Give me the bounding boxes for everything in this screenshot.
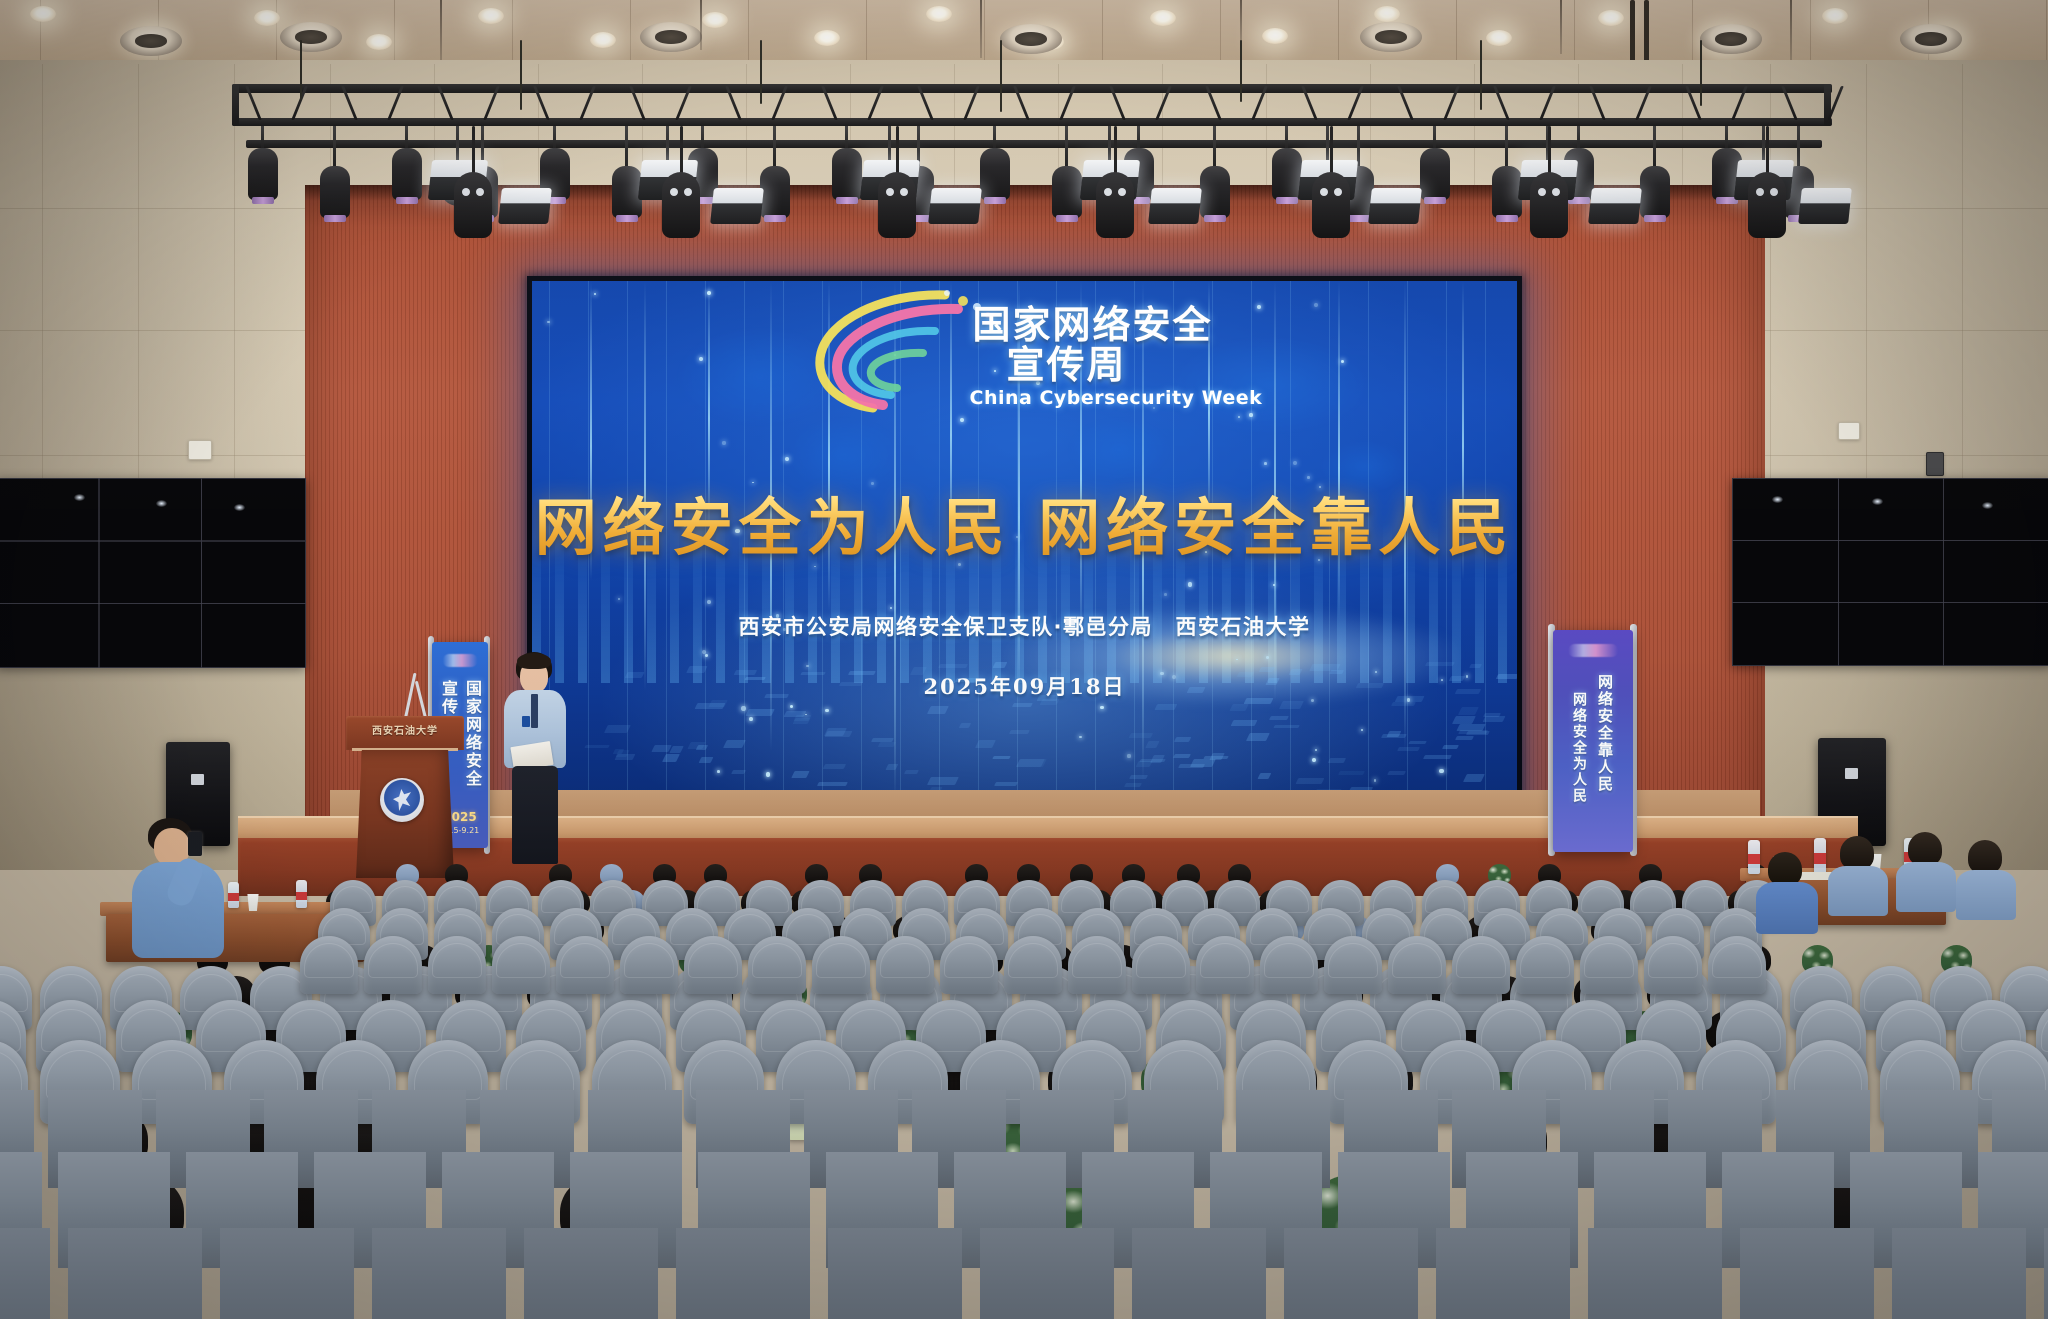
auditorium-seat: [1388, 936, 1446, 994]
auditorium-seat: [1452, 936, 1510, 994]
auditorium-seat: [0, 1228, 50, 1319]
left-banner-logo: [443, 654, 478, 667]
lamp-drop-arm: [1326, 126, 1329, 162]
data-block: [1423, 755, 1452, 759]
auditorium-seat: [372, 1228, 506, 1319]
moving-head-light: [1312, 172, 1350, 238]
hanging-cable: [520, 40, 522, 110]
led-screen: 国家网络安全 宣传周 China Cybersecurity Week 网络安全…: [527, 276, 1522, 829]
ceiling-downlight: [1262, 28, 1288, 44]
ceiling-seam: [276, 0, 277, 66]
ceiling-wire: [1560, 0, 1562, 54]
data-block: [1463, 774, 1485, 782]
network-node: [749, 717, 753, 721]
cybersecurity-week-logo: 国家网络安全 宣传周 China Cybersecurity Week: [795, 287, 1255, 415]
par-can-light: [1492, 166, 1522, 218]
auditorium-seat: [1740, 1228, 1874, 1319]
auditorium-seat: [492, 936, 550, 994]
auditorium-seat: [1004, 936, 1062, 994]
data-block: [1129, 775, 1149, 779]
event-date: 2025年09月18日: [532, 671, 1517, 701]
lamp-drop-arm: [1108, 126, 1111, 162]
moving-head-light: [662, 172, 700, 238]
network-node: [1238, 416, 1240, 418]
data-block: [818, 782, 848, 786]
data-block: [995, 782, 1019, 786]
ceiling-light-fixture: [120, 26, 182, 56]
auditorium-seat: [364, 936, 422, 994]
ceiling-seam: [1102, 0, 1103, 66]
par-can-light: [1200, 166, 1230, 218]
lamp-drop-arm: [1653, 126, 1656, 166]
hanging-cable: [300, 40, 302, 100]
ceiling-seam: [1456, 0, 1457, 66]
ceiling-cable: [1630, 0, 1635, 66]
par-can-light: [1272, 148, 1302, 200]
data-block: [1387, 771, 1406, 775]
data-block: [871, 738, 893, 742]
data-block: [1391, 702, 1416, 706]
auditorium-seat: [1068, 936, 1126, 994]
par-can-light: [1640, 166, 1670, 218]
data-block: [823, 764, 846, 769]
data-block: [958, 723, 971, 728]
ceiling-seam: [394, 0, 395, 66]
data-block: [1203, 756, 1229, 759]
lamp-drop-arm: [1065, 126, 1068, 166]
stone-seam-v: [746, 64, 747, 188]
data-block: [1455, 736, 1474, 740]
par-can-light: [832, 148, 862, 200]
data-block: [708, 700, 728, 707]
network-node: [741, 706, 745, 710]
lamp-drop-arm: [701, 126, 704, 148]
data-block: [1269, 716, 1289, 720]
data-block: [1397, 747, 1420, 751]
lamp-drop-arm: [993, 126, 996, 148]
network-node: [1273, 584, 1275, 586]
data-block: [1425, 662, 1455, 666]
logo-english-title: China Cybersecurity Week: [970, 387, 1263, 409]
organizers-line: 西安市公安局网络安全保卫支队·鄠邑分局 西安石油大学: [532, 611, 1517, 641]
swoosh-icon: [795, 287, 995, 415]
lamp-drop-arm: [553, 126, 556, 148]
data-block: [1453, 716, 1476, 724]
auditorium-seat: [828, 1228, 962, 1319]
data-block: [1145, 741, 1159, 748]
official-torso: [1956, 870, 2016, 920]
ceiling-downlight: [702, 12, 728, 28]
ceiling-downlight: [254, 10, 280, 26]
data-block: [1280, 701, 1305, 709]
network-node: [825, 709, 829, 713]
data-block: [1443, 745, 1460, 749]
auditorium-scene: 国家网络安全 宣传周 China Cybersecurity Week 网络安全…: [0, 0, 2048, 1319]
water-bottle-2: [1814, 838, 1826, 874]
auditorium-seat: [1892, 1228, 2026, 1319]
moving-head-light: [1530, 172, 1568, 238]
data-block: [669, 746, 683, 753]
official-head: [1768, 852, 1802, 886]
lamp-cable: [680, 126, 683, 174]
presenter-necktie: [531, 694, 538, 728]
lamp-drop-arm: [1505, 126, 1508, 166]
lamp-drop-arm: [1762, 126, 1765, 162]
data-block: [904, 770, 919, 774]
ceiling-seam: [1810, 0, 1811, 66]
fresnel-light: [710, 188, 764, 224]
official-head: [1968, 840, 2002, 874]
data-block: [696, 745, 708, 750]
moving-head-light: [1748, 172, 1786, 238]
par-can-light: [980, 148, 1010, 200]
network-node: [707, 600, 711, 604]
data-block: [745, 709, 774, 716]
data-block: [698, 757, 713, 763]
ceiling-wire: [440, 0, 442, 62]
data-block: [993, 662, 1008, 668]
lamp-drop-arm: [261, 126, 264, 148]
led-screen-surface: 国家网络安全 宣传周 China Cybersecurity Week 网络安全…: [532, 281, 1517, 824]
wall-panel-left: [188, 440, 212, 460]
ceiling-seam: [630, 0, 631, 66]
ceiling-downlight: [1486, 30, 1512, 46]
data-block: [1128, 733, 1152, 738]
data-block: [1273, 725, 1300, 728]
ceiling-downlight: [478, 8, 504, 24]
data-block: [1482, 716, 1505, 722]
network-node: [766, 772, 770, 776]
official-torso: [1756, 882, 1818, 934]
stone-seam-v: [1266, 64, 1267, 188]
network-node: [1266, 656, 1269, 659]
data-block: [927, 706, 949, 714]
fresnel-light: [498, 188, 552, 224]
data-block: [1469, 664, 1482, 668]
data-block: [1140, 759, 1167, 762]
data-block: [791, 771, 810, 778]
lamp-drop-arm: [1725, 126, 1728, 148]
auditorium-seat: [748, 936, 806, 994]
hanging-cable: [760, 40, 762, 104]
ceiling-light-fixture: [1000, 24, 1062, 54]
data-block: [651, 745, 671, 752]
par-can-light: [320, 166, 350, 218]
lamp-drop-arm: [1433, 126, 1436, 148]
stone-seam-v: [1162, 64, 1163, 188]
auditorium-seat: [1196, 936, 1254, 994]
right-banner-text-1: 网络安全靠人民: [1595, 674, 1616, 814]
network-node: [1127, 754, 1130, 757]
network-node: [1314, 303, 1318, 307]
truss-post-left: [232, 84, 239, 126]
network-node: [1100, 706, 1103, 709]
network-node: [699, 357, 703, 361]
stone-seam-v: [954, 64, 955, 188]
ceiling-seam: [512, 0, 513, 66]
ceiling-seam: [1220, 0, 1221, 66]
network-node: [1257, 305, 1261, 309]
moving-head-light: [878, 172, 916, 238]
ceiling-downlight: [1598, 10, 1624, 26]
ceiling-cable: [1644, 0, 1649, 62]
network-node: [594, 293, 596, 295]
data-block: [604, 725, 630, 733]
data-block: [1231, 720, 1258, 726]
official-head: [1840, 836, 1874, 870]
presenter-hair-top: [517, 653, 551, 669]
ceiling-light-fixture: [1360, 22, 1422, 52]
water-bottle-left-2: [296, 880, 307, 908]
auditorium-seat: [220, 1228, 354, 1319]
presenter-trousers: [512, 766, 558, 864]
par-can-light: [392, 148, 422, 200]
moving-head-light: [1096, 172, 1134, 238]
lamp-cable: [1548, 126, 1551, 174]
data-block: [584, 745, 610, 748]
data-block: [1338, 771, 1365, 775]
truss-bar-mid: [232, 118, 1832, 126]
lamp-drop-arm: [666, 126, 669, 162]
stone-seam-v: [1682, 64, 1683, 188]
moving-head-light: [454, 172, 492, 238]
par-can-light: [1052, 166, 1082, 218]
auditorium-seat: [1324, 936, 1382, 994]
side-video-wall-right: [1732, 478, 2048, 666]
fresnel-light: [1798, 188, 1852, 224]
lamp-cable: [472, 126, 475, 174]
data-block: [975, 740, 996, 748]
ceiling-downlight: [1150, 10, 1176, 26]
official-torso: [1828, 866, 1888, 916]
hanging-cable: [1240, 40, 1242, 102]
ceiling-wire: [980, 0, 982, 58]
wall-panel-right-2: [1926, 452, 1944, 476]
network-node: [785, 457, 789, 461]
hanging-cable: [1000, 40, 1002, 112]
right-banner-text-2: 网络安全为人民: [1569, 692, 1589, 818]
photographer-phone: [188, 832, 202, 856]
auditorium-seat: [1260, 936, 1318, 994]
data-block: [1229, 704, 1249, 711]
fresnel-light: [928, 188, 982, 224]
side-video-wall-left: [0, 478, 306, 668]
auditorium-seat: [524, 1228, 658, 1319]
auditorium-seat: [1516, 936, 1574, 994]
auditorium-seat: [428, 936, 486, 994]
ceiling-wire: [1790, 0, 1792, 60]
water-bottle-left-1: [228, 882, 239, 908]
university-emblem-icon: [380, 778, 424, 822]
lamp-drop-arm: [1137, 126, 1140, 148]
lamp-cable: [1330, 126, 1333, 174]
wall-panel-right: [1838, 422, 1860, 440]
ceiling-light-fixture: [280, 22, 342, 52]
data-block: [662, 754, 680, 762]
data-block: [824, 731, 852, 737]
auditorium-seat: [2044, 1228, 2048, 1319]
ceiling-downlight: [366, 34, 392, 50]
data-block: [1258, 773, 1272, 779]
official-head: [1908, 832, 1942, 866]
ceiling-seam: [1574, 0, 1575, 66]
podium-institution-label: 西安石油大学: [346, 722, 464, 737]
auditorium-seat: [684, 936, 742, 994]
auditorium-seat: [940, 936, 998, 994]
ceiling-wire: [700, 0, 702, 50]
data-block: [1408, 741, 1426, 744]
data-block: [1125, 783, 1143, 787]
data-block: [1016, 759, 1045, 767]
water-bottle-1: [1748, 840, 1760, 874]
fresnel-light: [1588, 188, 1642, 224]
lamp-drop-arm: [773, 126, 776, 166]
data-block: [927, 777, 959, 785]
lamp-drop-arm: [456, 126, 459, 162]
fresnel-light: [1368, 188, 1422, 224]
lamp-drop-arm: [1577, 126, 1580, 148]
network-node: [1374, 779, 1377, 782]
ceiling-light-fixture: [1700, 24, 1762, 54]
ceiling-downlight: [1374, 6, 1400, 22]
lamp-drop-arm: [845, 126, 848, 148]
lamp-drop-arm: [405, 126, 408, 148]
logo-title-line1: 国家网络安全: [973, 305, 1213, 345]
data-block: [1009, 730, 1029, 734]
data-block: [1295, 778, 1324, 784]
data-block: [1328, 758, 1347, 763]
lamp-cable: [896, 126, 899, 174]
lamp-drop-arm: [333, 126, 336, 166]
lamp-drop-arm: [1357, 126, 1360, 166]
ceiling-seam: [2046, 0, 2047, 66]
ceiling-seam: [1692, 0, 1693, 66]
logo-title-line2: 宣传周: [1007, 345, 1127, 385]
data-block: [1309, 664, 1340, 671]
auditorium-seat: [620, 936, 678, 994]
network-node: [722, 441, 725, 444]
right-banner-logo: [1568, 644, 1618, 657]
auditorium-seat: [300, 936, 358, 994]
par-can-light: [1420, 148, 1450, 200]
data-block: [1458, 730, 1488, 734]
ceiling-downlight: [590, 32, 616, 48]
auditorium-seat: [1284, 1228, 1418, 1319]
lamp-cable: [1766, 126, 1769, 174]
data-block: [885, 764, 898, 770]
network-node: [890, 607, 892, 609]
network-node: [717, 770, 720, 773]
data-block: [1246, 733, 1269, 741]
data-block: [1173, 754, 1191, 758]
auditorium-seat: [676, 1228, 810, 1319]
lamp-drop-arm: [1213, 126, 1216, 166]
auditorium-seat: [1436, 1228, 1570, 1319]
ceiling-seam: [1338, 0, 1339, 66]
ceiling-downlight: [926, 6, 952, 22]
hanging-cable: [1480, 40, 1482, 110]
par-can-light: [612, 166, 642, 218]
lamp-drop-arm: [1285, 126, 1288, 148]
auditorium-seat: [812, 936, 870, 994]
data-block: [1155, 704, 1178, 710]
data-block: [731, 770, 746, 774]
network-node: [1164, 593, 1167, 596]
ceiling-seam: [984, 0, 985, 66]
auditorium-seat: [980, 1228, 1114, 1319]
auditorium-seat: [68, 1228, 202, 1319]
fresnel-light: [1148, 188, 1202, 224]
data-block: [1190, 759, 1216, 767]
network-node: [1315, 749, 1317, 751]
hanging-cable: [1700, 40, 1702, 106]
stone-seam-v: [1474, 64, 1475, 188]
auditorium-seat: [1588, 1228, 1722, 1319]
lamp-drop-arm: [625, 126, 628, 166]
auditorium-seat: [876, 936, 934, 994]
lamp-drop-arm: [1797, 126, 1800, 166]
auditorium-seat: [556, 936, 614, 994]
lamp-drop-arm: [888, 126, 891, 162]
network-node: [547, 321, 549, 323]
stone-seam-v: [538, 64, 539, 188]
data-block: [1012, 703, 1033, 707]
ceiling-seam: [748, 0, 749, 66]
data-block: [1458, 707, 1479, 715]
auditorium-seat: [1708, 936, 1766, 994]
network-node: [1439, 769, 1443, 773]
ceiling-downlight: [30, 6, 56, 22]
data-block: [938, 664, 968, 668]
right-banner: 网络安全靠人民 网络安全为人民: [1553, 630, 1633, 852]
data-block: [878, 742, 896, 747]
data-block: [723, 740, 746, 748]
ceiling-light-fixture: [1900, 24, 1962, 54]
main-slogan: 网络安全为人民 网络安全靠人民: [532, 477, 1517, 567]
auditorium-seat: [1132, 936, 1190, 994]
par-can-light: [760, 166, 790, 218]
ceiling-downlight: [1822, 8, 1848, 24]
data-block: [992, 756, 1010, 759]
par-can-light: [248, 148, 278, 200]
ceiling-seam: [866, 0, 867, 66]
data-block: [1174, 737, 1191, 742]
ceiling-downlight: [814, 30, 840, 46]
auditorium-seat: [1644, 936, 1702, 994]
ceiling-light-fixture: [640, 22, 702, 52]
network-node: [790, 705, 793, 708]
auditorium-seat: [1132, 1228, 1266, 1319]
presenter-badge: [522, 716, 530, 727]
lamp-cable: [1114, 126, 1117, 174]
official-torso: [1896, 862, 1956, 912]
auditorium-seat: [1580, 936, 1638, 994]
